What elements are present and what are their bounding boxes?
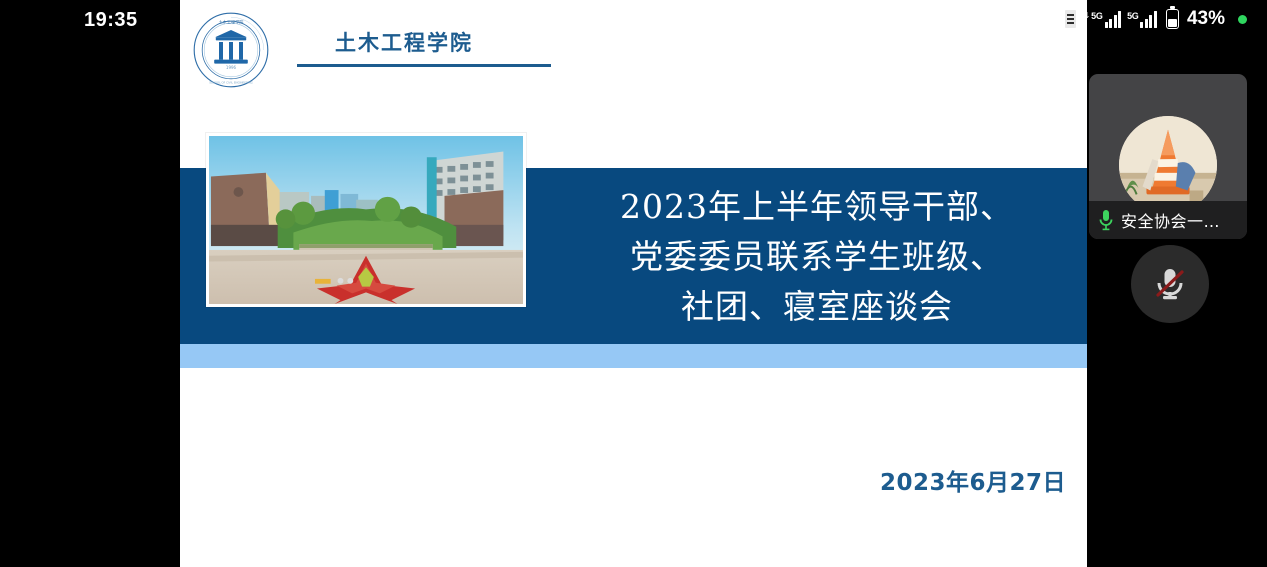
header-divider bbox=[297, 64, 551, 67]
shared-slide[interactable]: 1996 土木工程学院 SCHOOL OF CIVIL ENGINEERING … bbox=[180, 0, 1087, 567]
battery-percent-label: 43% bbox=[1187, 8, 1225, 30]
title-line-3: 社团、寝室座谈会 bbox=[681, 282, 953, 332]
svg-text:1996: 1996 bbox=[226, 65, 237, 70]
participant-footer: 安全协会一… bbox=[1089, 201, 1247, 239]
title-line-2: 党委委员联系学生班级、 bbox=[630, 232, 1004, 282]
participant-name: 安全协会一… bbox=[1121, 208, 1220, 232]
network-type-label-1: 5G bbox=[1091, 12, 1102, 21]
slide-main-title: 2023年上半年领导干部、 党委委员联系学生班级、 社团、寝室座谈会 bbox=[572, 170, 1062, 344]
slide-header: 1996 土木工程学院 SCHOOL OF CIVIL ENGINEERING … bbox=[180, 0, 1087, 96]
title-line-1: 2023年上半年领导干部、 bbox=[620, 182, 1014, 232]
svg-text:土木工程学院: 土木工程学院 bbox=[219, 19, 244, 25]
campus-plaza-photo bbox=[206, 133, 526, 307]
battery-icon bbox=[1166, 9, 1179, 29]
signal-bars-icon-1 bbox=[1105, 11, 1122, 28]
recording-dot-icon bbox=[1238, 15, 1247, 24]
signal-5g-icon-1: ⇅ 5G bbox=[1082, 11, 1121, 28]
network-type-label-2: 5G bbox=[1127, 12, 1138, 21]
slide-date: 2023年6月27日 bbox=[880, 463, 1066, 497]
phone-screen: 19:35 ⇅ 5G 5G 43% bbox=[0, 0, 1267, 567]
status-clock: 19:35 bbox=[84, 9, 138, 32]
title-banner-accent-bar bbox=[180, 344, 1087, 368]
microphone-on-icon bbox=[1098, 209, 1114, 231]
mute-microphone-button[interactable] bbox=[1131, 245, 1209, 323]
department-title: 土木工程学院 bbox=[335, 27, 473, 57]
school-emblem-logo: 1996 土木工程学院 SCHOOL OF CIVIL ENGINEERING bbox=[188, 10, 274, 90]
svg-text:SCHOOL OF CIVIL ENGINEERING: SCHOOL OF CIVIL ENGINEERING bbox=[209, 81, 253, 85]
participant-avatar bbox=[1119, 116, 1217, 214]
signal-bars-icon-2 bbox=[1140, 11, 1157, 28]
signal-5g-icon-2: 5G bbox=[1127, 11, 1157, 28]
status-icons: ⇅ 5G 5G 43% bbox=[1065, 8, 1247, 30]
participant-video-tile[interactable]: 安全协会一… bbox=[1089, 74, 1247, 239]
